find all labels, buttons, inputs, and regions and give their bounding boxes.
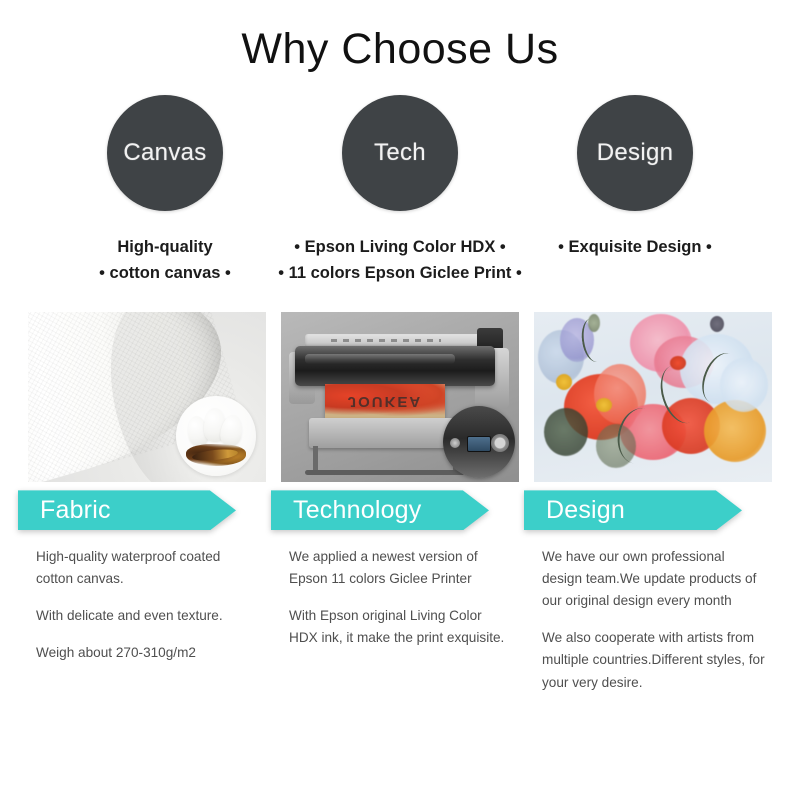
print-sample-text: JOUKEA — [325, 393, 445, 410]
printer-main-body — [295, 346, 495, 386]
card-body-technology: We applied a newest version of Epson 11 … — [289, 546, 519, 649]
badge-row: Canvas High-quality • cotton canvas • Te… — [0, 95, 800, 286]
control-panel-inset-icon — [443, 406, 515, 478]
printed-output-sheet: JOUKEA — [325, 384, 445, 418]
dpad-icon — [491, 434, 509, 452]
page-title: Why Choose Us — [0, 0, 800, 73]
banner-arrow-shape: Design — [524, 490, 742, 530]
banner-label: Fabric — [18, 496, 111, 525]
feature-cards: Fabric High-quality waterproof coated co… — [0, 312, 800, 693]
banner-arrow-shape: Fabric — [18, 490, 236, 530]
card-body-design: We have our own professional design team… — [542, 546, 772, 693]
badge-caption-line-1: High-quality — [99, 235, 231, 261]
painting-photo — [534, 312, 772, 482]
lcd-screen-icon — [467, 436, 491, 452]
card-body-fabric: High-quality waterproof coated cotton ca… — [36, 546, 266, 664]
paragraph: We applied a newest version of Epson 11 … — [289, 546, 513, 590]
badge-caption-tech: • Epson Living Color HDX • • 11 colors E… — [278, 235, 522, 286]
badge-design: Design • Exquisite Design • — [530, 95, 740, 286]
badge-canvas: Canvas High-quality • cotton canvas • — [60, 95, 270, 286]
cotton-boll-icon — [176, 396, 256, 476]
badge-caption-design: • Exquisite Design • — [558, 235, 712, 261]
badge-circle-label: Tech — [374, 139, 426, 167]
badge-circle-label: Canvas — [123, 139, 206, 167]
badge-circle-label: Design — [597, 139, 674, 167]
card-technology: JOUKEA Technology We applied a newest ve… — [281, 312, 519, 693]
paragraph: High-quality waterproof coated cotton ca… — [36, 546, 260, 590]
badge-caption-line-2: • cotton canvas • — [99, 261, 231, 287]
control-knob-icon — [450, 438, 460, 448]
banner-fabric: Fabric — [18, 490, 236, 530]
badge-circle-canvas: Canvas — [107, 95, 223, 211]
cotton-husk — [186, 444, 246, 466]
badge-caption-line-1: • Exquisite Design • — [558, 235, 712, 261]
banner-design: Design — [524, 490, 742, 530]
paragraph: With Epson original Living Color HDX ink… — [289, 605, 513, 649]
paragraph: We have our own professional design team… — [542, 546, 766, 612]
badge-caption-line-2: • 11 colors Epson Giclee Print • — [278, 261, 522, 287]
banner-technology: Technology — [271, 490, 489, 530]
banner-arrow-shape: Technology — [271, 490, 489, 530]
paragraph: With delicate and even texture. — [36, 605, 260, 627]
fabric-photo — [28, 312, 266, 482]
banner-label: Design — [524, 496, 625, 525]
printer-photo: JOUKEA — [281, 312, 519, 482]
banner-label: Technology — [271, 496, 421, 525]
badge-caption-canvas: High-quality • cotton canvas • — [99, 235, 231, 286]
card-design: Design We have our own professional desi… — [534, 312, 772, 693]
badge-caption-line-1: • Epson Living Color HDX • — [278, 235, 522, 261]
card-fabric: Fabric High-quality waterproof coated co… — [28, 312, 266, 693]
badge-circle-design: Design — [577, 95, 693, 211]
paragraph: Weigh about 270-310g/m2 — [36, 642, 260, 664]
printer-base — [305, 470, 465, 475]
badge-circle-tech: Tech — [342, 95, 458, 211]
badge-tech: Tech • Epson Living Color HDX • • 11 col… — [295, 95, 505, 286]
paragraph: We also cooperate with artists from mult… — [542, 627, 766, 693]
